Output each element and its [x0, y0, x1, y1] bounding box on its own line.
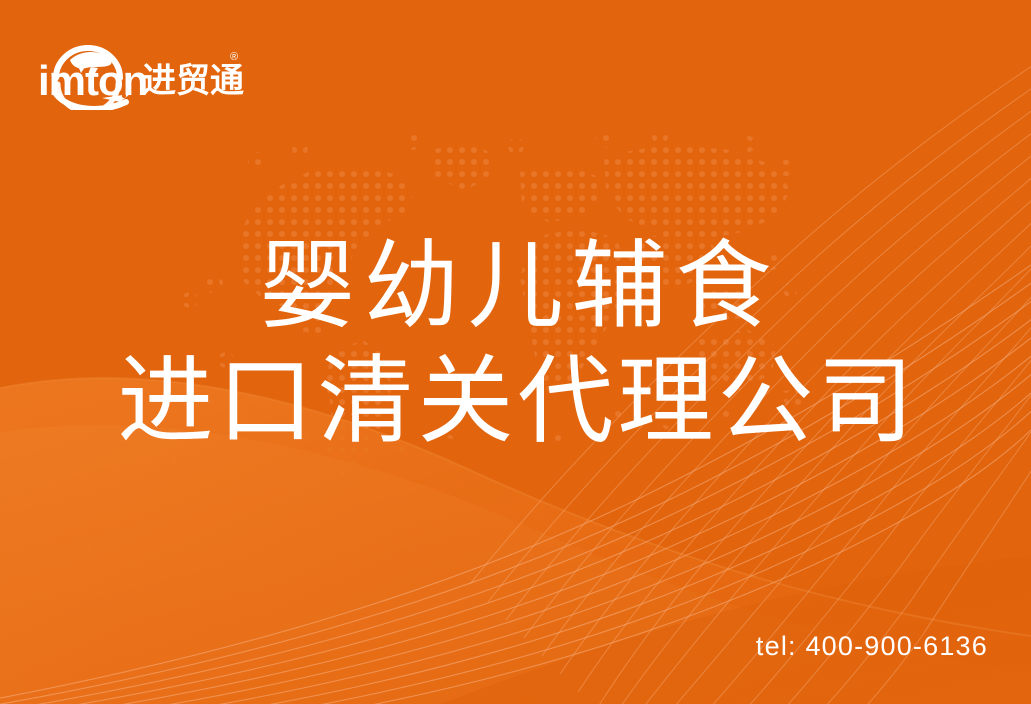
- logo-chinese-name: 进贸通: [142, 61, 244, 101]
- headline-line-2: 进口清关代理公司: [0, 346, 1031, 458]
- brand-logo[interactable]: imton 进贸通 ®: [34, 26, 244, 110]
- trademark-icon: ®: [230, 51, 238, 63]
- promo-banner: imton 进贸通 ® 婴幼儿辅食 进口清关代理公司 tel: 400-900-…: [0, 0, 1031, 704]
- headline: 婴幼儿辅食 进口清关代理公司: [0, 228, 1031, 458]
- headline-line-1: 婴幼儿辅食: [0, 228, 1031, 346]
- logo-wordmark: imton: [38, 57, 147, 104]
- contact-phone: tel: 400-900-6136: [756, 631, 988, 662]
